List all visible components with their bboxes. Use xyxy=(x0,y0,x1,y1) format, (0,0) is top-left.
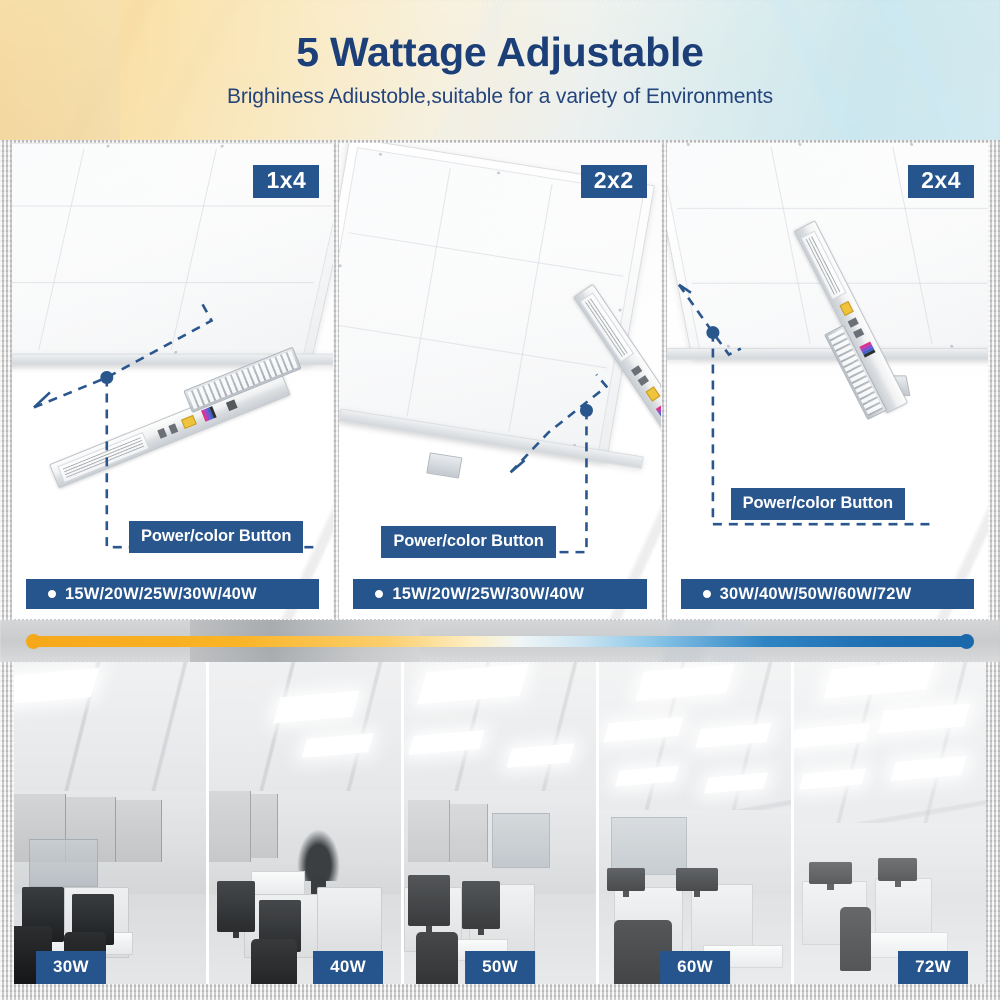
power-color-button-tag-2x4: Power/color Button xyxy=(731,488,905,520)
wattage-label-60w: 60W xyxy=(660,951,730,984)
size-badge-1x4: 1x4 xyxy=(253,165,319,198)
wattage-bar-1x4: 15W/20W/25W/30W/40W xyxy=(26,579,319,609)
product-card-2x2: 2x2 Power/color Button 15W/20W/25W/30W/4… xyxy=(339,143,660,619)
bullet-dot-icon xyxy=(48,590,56,598)
bullet-dot-icon xyxy=(375,590,383,598)
warm-to-cool-gradient-bar xyxy=(30,636,972,647)
wattage-list-2x4: 30W/40W/50W/60W/72W xyxy=(720,585,912,604)
size-badge-2x2: 2x2 xyxy=(581,165,647,198)
infographic-page: 5 Wattage Adjustable Brighiness Adiustob… xyxy=(0,0,1000,1000)
header-banner: 5 Wattage Adjustable Brighiness Adiustob… xyxy=(0,0,1000,140)
product-card-1x4: 1x4 Power/color Button 15W/20W/25W/30W/4… xyxy=(12,143,333,619)
product-card-2x4: 2x4 Power/color Button 30W/40W/50W/60W/7… xyxy=(667,143,988,619)
bullet-dot-icon xyxy=(703,590,711,598)
office-scene-60w: 60W xyxy=(599,662,791,984)
mounting-bracket xyxy=(427,452,463,478)
wattage-list-1x4: 15W/20W/25W/30W/40W xyxy=(65,585,257,604)
page-title: 5 Wattage Adjustable xyxy=(296,31,704,74)
wattage-label-40w: 40W xyxy=(313,951,383,984)
wattage-bar-2x2: 15W/20W/25W/30W/40W xyxy=(353,579,646,609)
warm-end-dot-icon xyxy=(26,634,41,649)
office-scene-50w: 50W xyxy=(404,662,596,984)
product-cards-row: 1x4 Power/color Button 15W/20W/25W/30W/4… xyxy=(12,143,988,619)
office-scene-72w: 72W xyxy=(794,662,986,984)
wattage-label-50w: 50W xyxy=(465,951,535,984)
wattage-label-72w: 72W xyxy=(898,951,968,984)
color-temperature-strip xyxy=(0,620,1000,662)
page-subtitle: Brighiness Adiustoble,suitable for a var… xyxy=(227,85,773,109)
wattage-bar-2x4: 30W/40W/50W/60W/72W xyxy=(681,579,974,609)
power-color-button-tag-1x4: Power/color Button xyxy=(129,521,303,553)
cool-end-dot-icon xyxy=(959,634,974,649)
size-badge-2x4: 2x4 xyxy=(908,165,974,198)
wattage-list-2x2: 15W/20W/25W/30W/40W xyxy=(392,585,584,604)
office-scene-40w: 40W xyxy=(209,662,401,984)
panel-photo-2x4 xyxy=(667,143,988,619)
wattage-label-30w: 30W xyxy=(36,951,106,984)
power-color-button-tag-2x2: Power/color Button xyxy=(381,526,555,558)
office-scene-30w: 30W xyxy=(14,662,206,984)
office-brightness-comparison-strip: 30W 40W xyxy=(14,662,986,984)
